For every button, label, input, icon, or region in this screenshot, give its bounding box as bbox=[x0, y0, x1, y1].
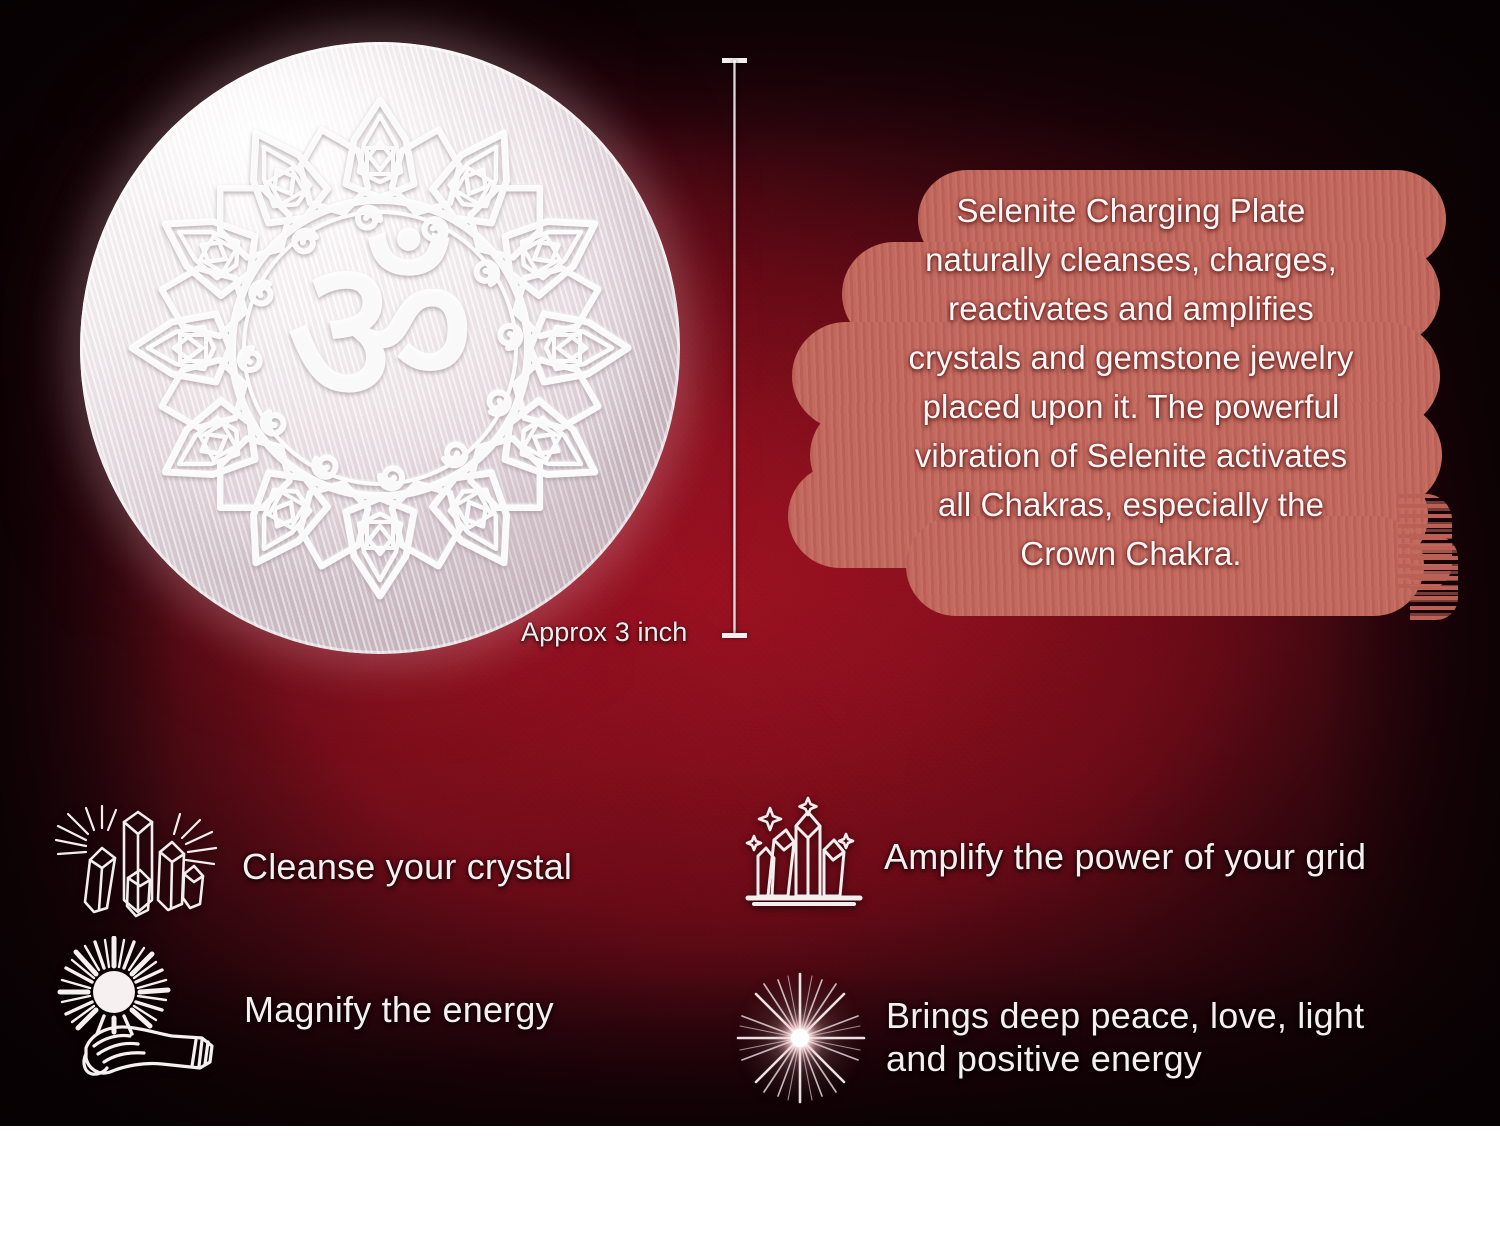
svg-text:ॐ: ॐ bbox=[285, 212, 475, 454]
measurement-label: Approx 3 inch bbox=[521, 617, 687, 648]
measure-line-icon bbox=[716, 52, 752, 644]
description-line: vibration of Selenite activates bbox=[882, 431, 1380, 480]
product-infographic: ॐ Approx 3 inch Selenite Charging Platen… bbox=[0, 0, 1500, 1250]
feature-label: Cleanse your crystal bbox=[242, 845, 572, 888]
om-mandala-carving-icon: ॐ bbox=[80, 42, 680, 654]
description-line: placed upon it. The powerful bbox=[882, 382, 1380, 431]
sun-in-hand-icon bbox=[52, 936, 222, 1082]
feature-label: Brings deep peace, love, lightand positi… bbox=[886, 994, 1364, 1080]
measure-bar bbox=[733, 60, 736, 636]
feature-cleanse-your-crystal: Cleanse your crystal bbox=[52, 804, 572, 928]
description-line: Selenite Charging Plate bbox=[882, 186, 1380, 235]
description-text: Selenite Charging Platenaturally cleanse… bbox=[882, 186, 1380, 578]
feature-label: Amplify the power of your grid bbox=[884, 835, 1366, 878]
description-line: Crown Chakra. bbox=[882, 529, 1380, 578]
crystal-cluster-sparkle-icon bbox=[52, 804, 220, 928]
description-panel: Selenite Charging Platenaturally cleanse… bbox=[770, 164, 1480, 629]
description-line: crystals and gemstone jewelry bbox=[882, 333, 1380, 382]
feature-label-line: and positive energy bbox=[886, 1037, 1364, 1080]
feature-brings-deep-peace-love-light: Brings deep peace, love, lightand positi… bbox=[732, 964, 1364, 1110]
description-line: reactivates and amplifies bbox=[882, 284, 1380, 333]
measure-cap-bottom bbox=[722, 633, 747, 638]
selenite-plate-image: ॐ bbox=[80, 42, 680, 654]
feature-label: Magnify the energy bbox=[244, 988, 554, 1031]
description-line: naturally cleanses, charges, bbox=[882, 235, 1380, 284]
starburst-glow-icon bbox=[732, 964, 874, 1110]
feature-label-line: Brings deep peace, love, light bbox=[886, 994, 1364, 1037]
feature-amplify-the-power-of-your-grid: Amplify the power of your grid bbox=[738, 796, 1366, 916]
bottom-white-band bbox=[0, 1126, 1500, 1250]
crystal-points-stars-icon bbox=[738, 796, 870, 916]
feature-magnify-the-energy: Magnify the energy bbox=[52, 936, 554, 1082]
description-line: all Chakras, especially the bbox=[882, 480, 1380, 529]
